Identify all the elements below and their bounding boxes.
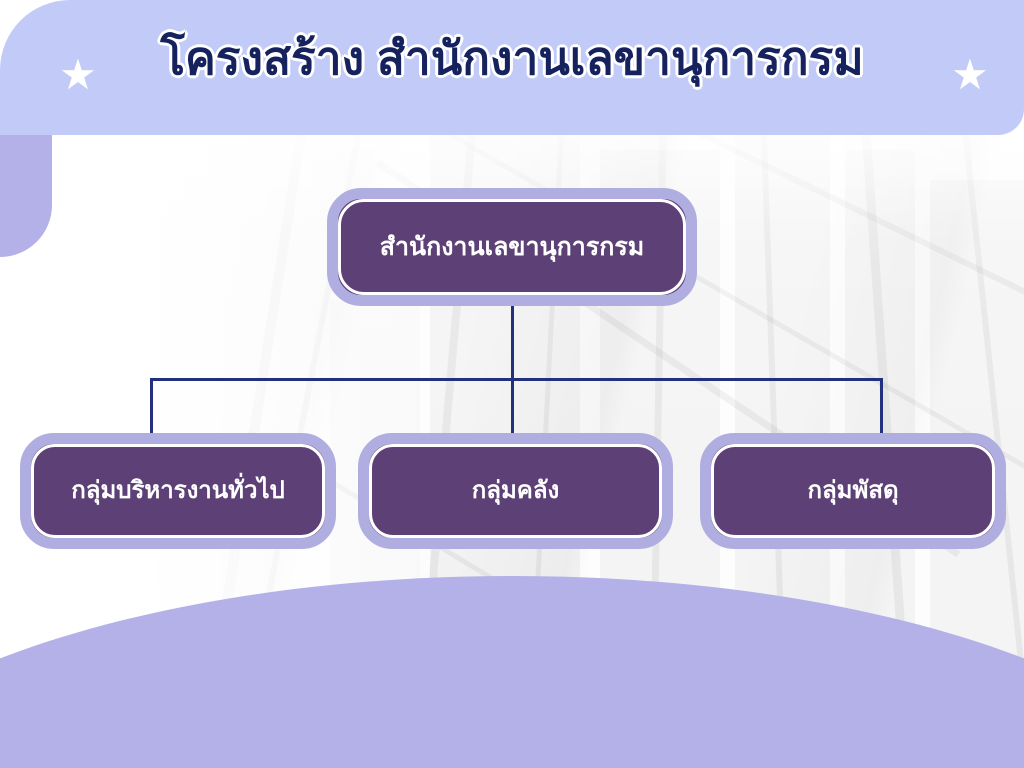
- header-banner: ★ โครงสร้าง สำนักงานเลขานุการกรม ★: [0, 0, 1024, 135]
- slide-canvas: ★ โครงสร้าง สำนักงานเลขานุการกรม ★ สำนัก…: [0, 0, 1024, 768]
- org-node-child-1-label: กลุ่มบริหารงานทั่วไป: [71, 477, 285, 506]
- connector-horizontal: [150, 378, 883, 381]
- org-node-child-3[interactable]: กลุ่มพัสดุ: [700, 433, 1006, 549]
- connector-drop-right: [880, 378, 883, 436]
- org-node-child-2-label: กลุ่มคลัง: [472, 477, 560, 506]
- org-node-root[interactable]: สำนักงานเลขานุการกรม: [327, 188, 697, 306]
- org-node-root-label: สำนักงานเลขานุการกรม: [380, 232, 645, 262]
- page-title: โครงสร้าง สำนักงานเลขานุการกรม: [0, 30, 1024, 88]
- star-icon-right: ★: [950, 55, 990, 95]
- org-node-child-3-inner: กลุ่มพัสดุ: [711, 444, 995, 538]
- org-node-child-1-inner: กลุ่มบริหารงานทั่วไป: [31, 444, 325, 538]
- org-node-root-inner: สำนักงานเลขานุการกรม: [338, 199, 686, 295]
- connector-root-stem: [511, 305, 514, 381]
- org-node-child-2[interactable]: กลุ่มคลัง: [358, 433, 673, 549]
- org-node-child-2-inner: กลุ่มคลัง: [369, 444, 662, 538]
- org-node-child-3-label: กลุ่มพัสดุ: [807, 477, 898, 506]
- connector-drop-left: [150, 378, 153, 436]
- connector-drop-center: [511, 378, 514, 436]
- org-node-child-1[interactable]: กลุ่มบริหารงานทั่วไป: [20, 433, 336, 549]
